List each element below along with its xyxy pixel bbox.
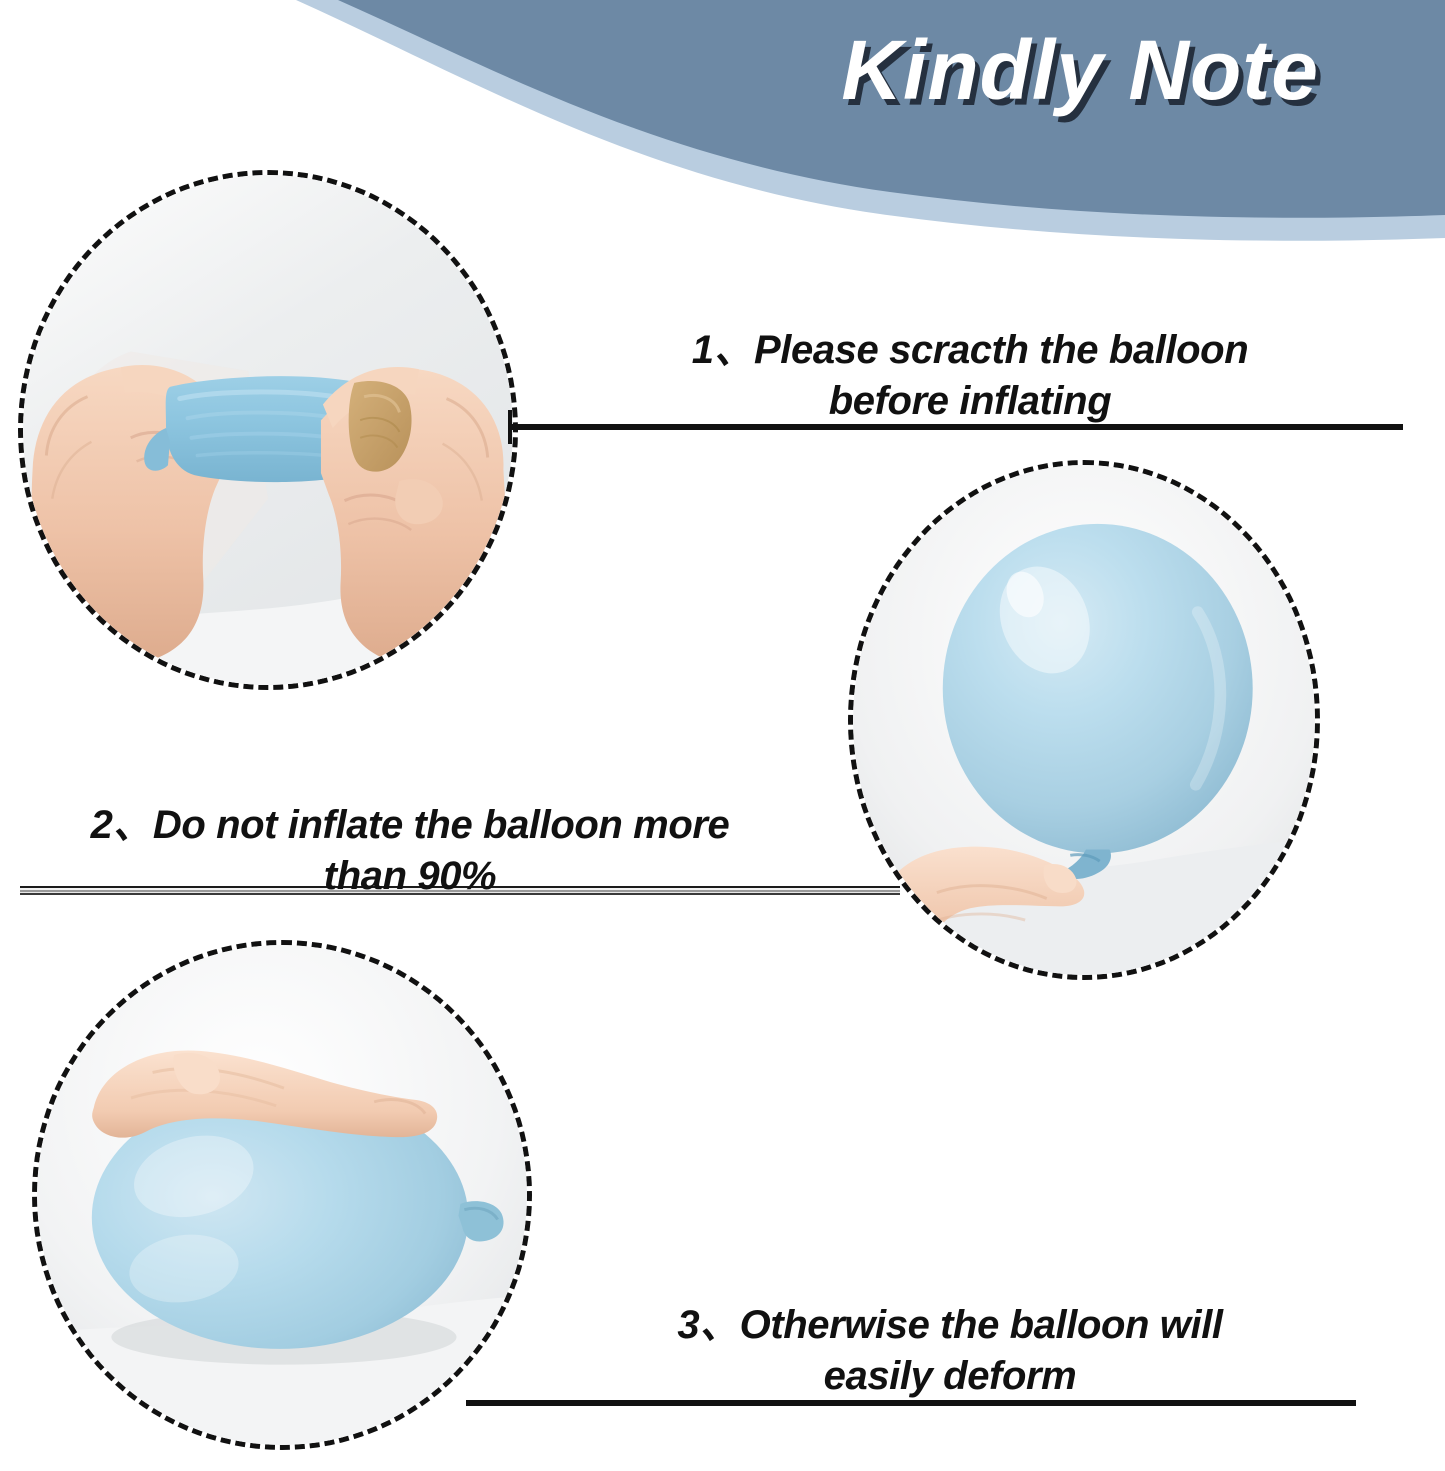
step-2-line-1: 2、Do not inflate the balloon more bbox=[60, 800, 760, 851]
hands-stretching-balloon-image bbox=[23, 175, 513, 685]
step-3-line-1: 3、Otherwise the balloon will bbox=[620, 1300, 1280, 1351]
step-3-line-2: easily deform bbox=[620, 1351, 1280, 1402]
step-1-line-2: before inflating bbox=[660, 376, 1280, 427]
hand-pressing-deformed-balloon-image bbox=[37, 945, 527, 1445]
step-2-line-2: than 90% bbox=[60, 851, 760, 902]
step-2-photo bbox=[848, 460, 1320, 980]
step-2-text: 2、Do not inflate the balloon more than 9… bbox=[60, 800, 760, 902]
step-1-text: 1、Please scracth the balloon before infl… bbox=[660, 325, 1280, 427]
step-1-number: 1、 bbox=[692, 328, 754, 372]
infographic-page: Kindly Note bbox=[0, 0, 1445, 1471]
step-2-line-1-text: Do not inflate the balloon more bbox=[153, 803, 730, 847]
step-3-number: 3、 bbox=[677, 1303, 739, 1347]
step-2-number: 2、 bbox=[91, 803, 153, 847]
step-1-line-1-text: Please scracth the balloon bbox=[754, 328, 1248, 372]
step-3-photo bbox=[32, 940, 532, 1450]
step-3-line-1-text: Otherwise the balloon will bbox=[740, 1303, 1223, 1347]
step-1-line-1: 1、Please scracth the balloon bbox=[660, 325, 1280, 376]
step-1-photo bbox=[18, 170, 518, 690]
page-title: Kindly Note bbox=[841, 26, 1319, 114]
step-3-text: 3、Otherwise the balloon will easily defo… bbox=[620, 1300, 1280, 1402]
hand-holding-inflated-balloon-image bbox=[853, 465, 1315, 975]
